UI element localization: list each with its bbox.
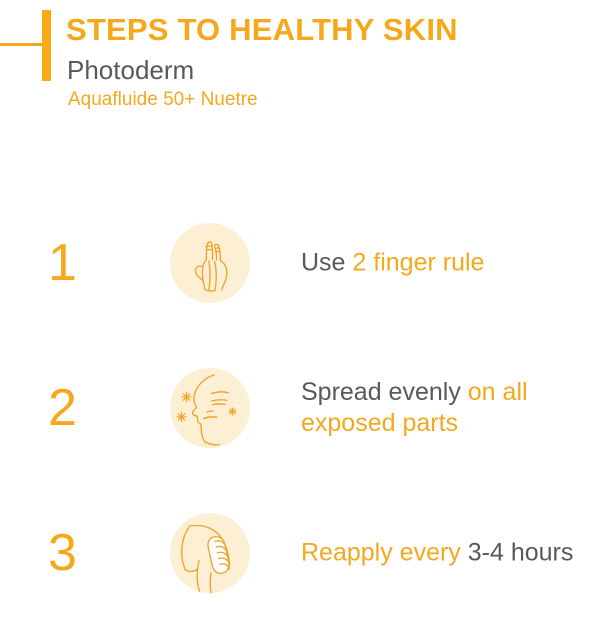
step-text-part: 2 finger rule	[352, 248, 484, 276]
bracket-vertical-bar	[42, 10, 51, 81]
product-variant: Aquafluide 50+ Nuetre	[68, 89, 258, 111]
sparkle-1	[182, 392, 191, 401]
steps-list: 1	[0, 190, 600, 625]
sparkle-2	[177, 412, 186, 421]
step-text-part: Use	[301, 248, 352, 276]
hand-holding-tube-icon	[170, 513, 250, 593]
step-text: Use 2 finger rule	[301, 247, 591, 278]
step-text-part: Reapply every	[301, 538, 468, 566]
page-title: STEPS TO HEALTHY SKIN	[66, 12, 458, 48]
step-text: Reapply every 3-4 hours	[301, 537, 591, 568]
step-item: 1	[0, 190, 600, 335]
header: STEPS TO HEALTHY SKIN Photoderm Aquaflui…	[0, 0, 600, 130]
step-item: 3	[0, 480, 600, 625]
sparkle-3	[229, 408, 236, 415]
step-text-part: Spread evenly	[301, 377, 468, 405]
product-name: Photoderm	[67, 55, 194, 86]
step-text: Spread evenly on all exposed parts	[301, 376, 591, 439]
step-number: 1	[48, 237, 77, 289]
step-item: 2	[0, 335, 600, 480]
face-profile-sparkle-icon	[170, 368, 250, 448]
step-text-part: 3-4 hours	[468, 538, 574, 566]
step-number: 2	[48, 382, 77, 434]
two-fingers-hand-icon	[170, 223, 250, 303]
bracket-horizontal-rule	[0, 43, 46, 46]
step-number: 3	[48, 527, 77, 579]
